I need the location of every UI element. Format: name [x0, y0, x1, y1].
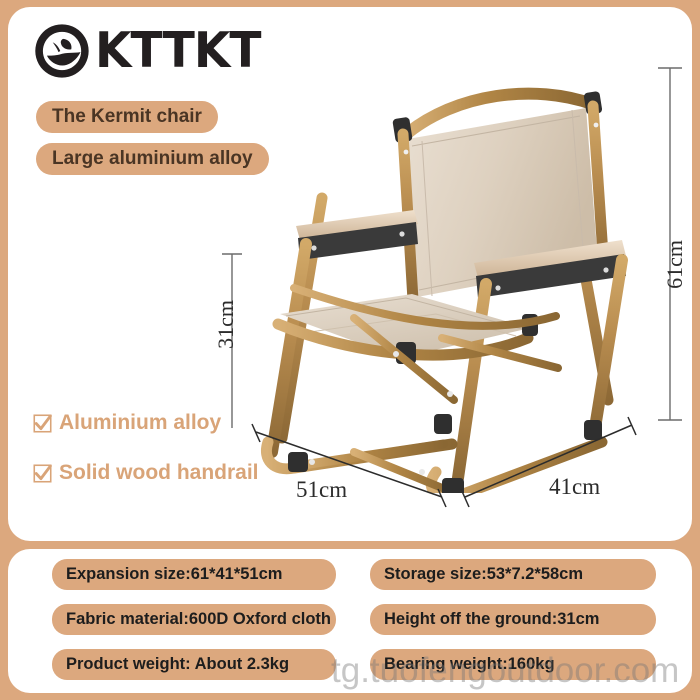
feature-label: Aluminium alloy — [59, 411, 221, 435]
spec-product-weight: Product weight: About 2.3kg — [52, 649, 336, 680]
circle-leaf-sprout-logo-icon — [33, 22, 91, 80]
product-info-poster: KTTKT The Kermit chair Large aluminium a… — [0, 0, 700, 700]
check-box-icon — [33, 414, 52, 433]
dimension-label-41cm: 41cm — [549, 474, 600, 500]
spec-height-off-ground: Height off the ground:31cm — [370, 604, 656, 635]
dimension-label-61cm: 61cm — [662, 240, 688, 289]
dimension-label-51cm: 51cm — [296, 477, 347, 503]
spec-storage-size: Storage size:53*7.2*58cm — [370, 559, 656, 590]
dimension-label-31cm: 31cm — [213, 300, 239, 349]
title-pill-label: The Kermit chair — [52, 106, 202, 128]
spec-label: Expansion size:61*41*51cm — [66, 565, 282, 584]
spec-label: Bearing weight:160kg — [384, 655, 555, 674]
feature-aluminium-alloy: Aluminium alloy — [33, 411, 221, 435]
title-pill-label: Large aluminium alloy — [52, 148, 253, 170]
spec-expansion-size: Expansion size:61*41*51cm — [52, 559, 336, 590]
feature-solid-wood-handrail: Solid wood handrail — [33, 461, 259, 485]
title-pill-large-aluminium-alloy: Large aluminium alloy — [36, 143, 269, 175]
feature-label: Solid wood handrail — [59, 461, 259, 485]
brand-logo: KTTKT — [33, 22, 267, 80]
spec-fabric-material: Fabric material:600D Oxford cloth — [52, 604, 336, 635]
spec-label: Height off the ground:31cm — [384, 610, 599, 629]
product-image-kermit-chair — [236, 48, 656, 493]
spec-bearing-weight: Bearing weight:160kg — [370, 649, 656, 680]
spec-label: Fabric material:600D Oxford cloth — [66, 610, 331, 629]
title-pill-kermit-chair: The Kermit chair — [36, 101, 218, 133]
spec-label: Storage size:53*7.2*58cm — [384, 565, 583, 584]
spec-label: Product weight: About 2.3kg — [66, 655, 289, 674]
check-box-icon — [33, 464, 52, 483]
